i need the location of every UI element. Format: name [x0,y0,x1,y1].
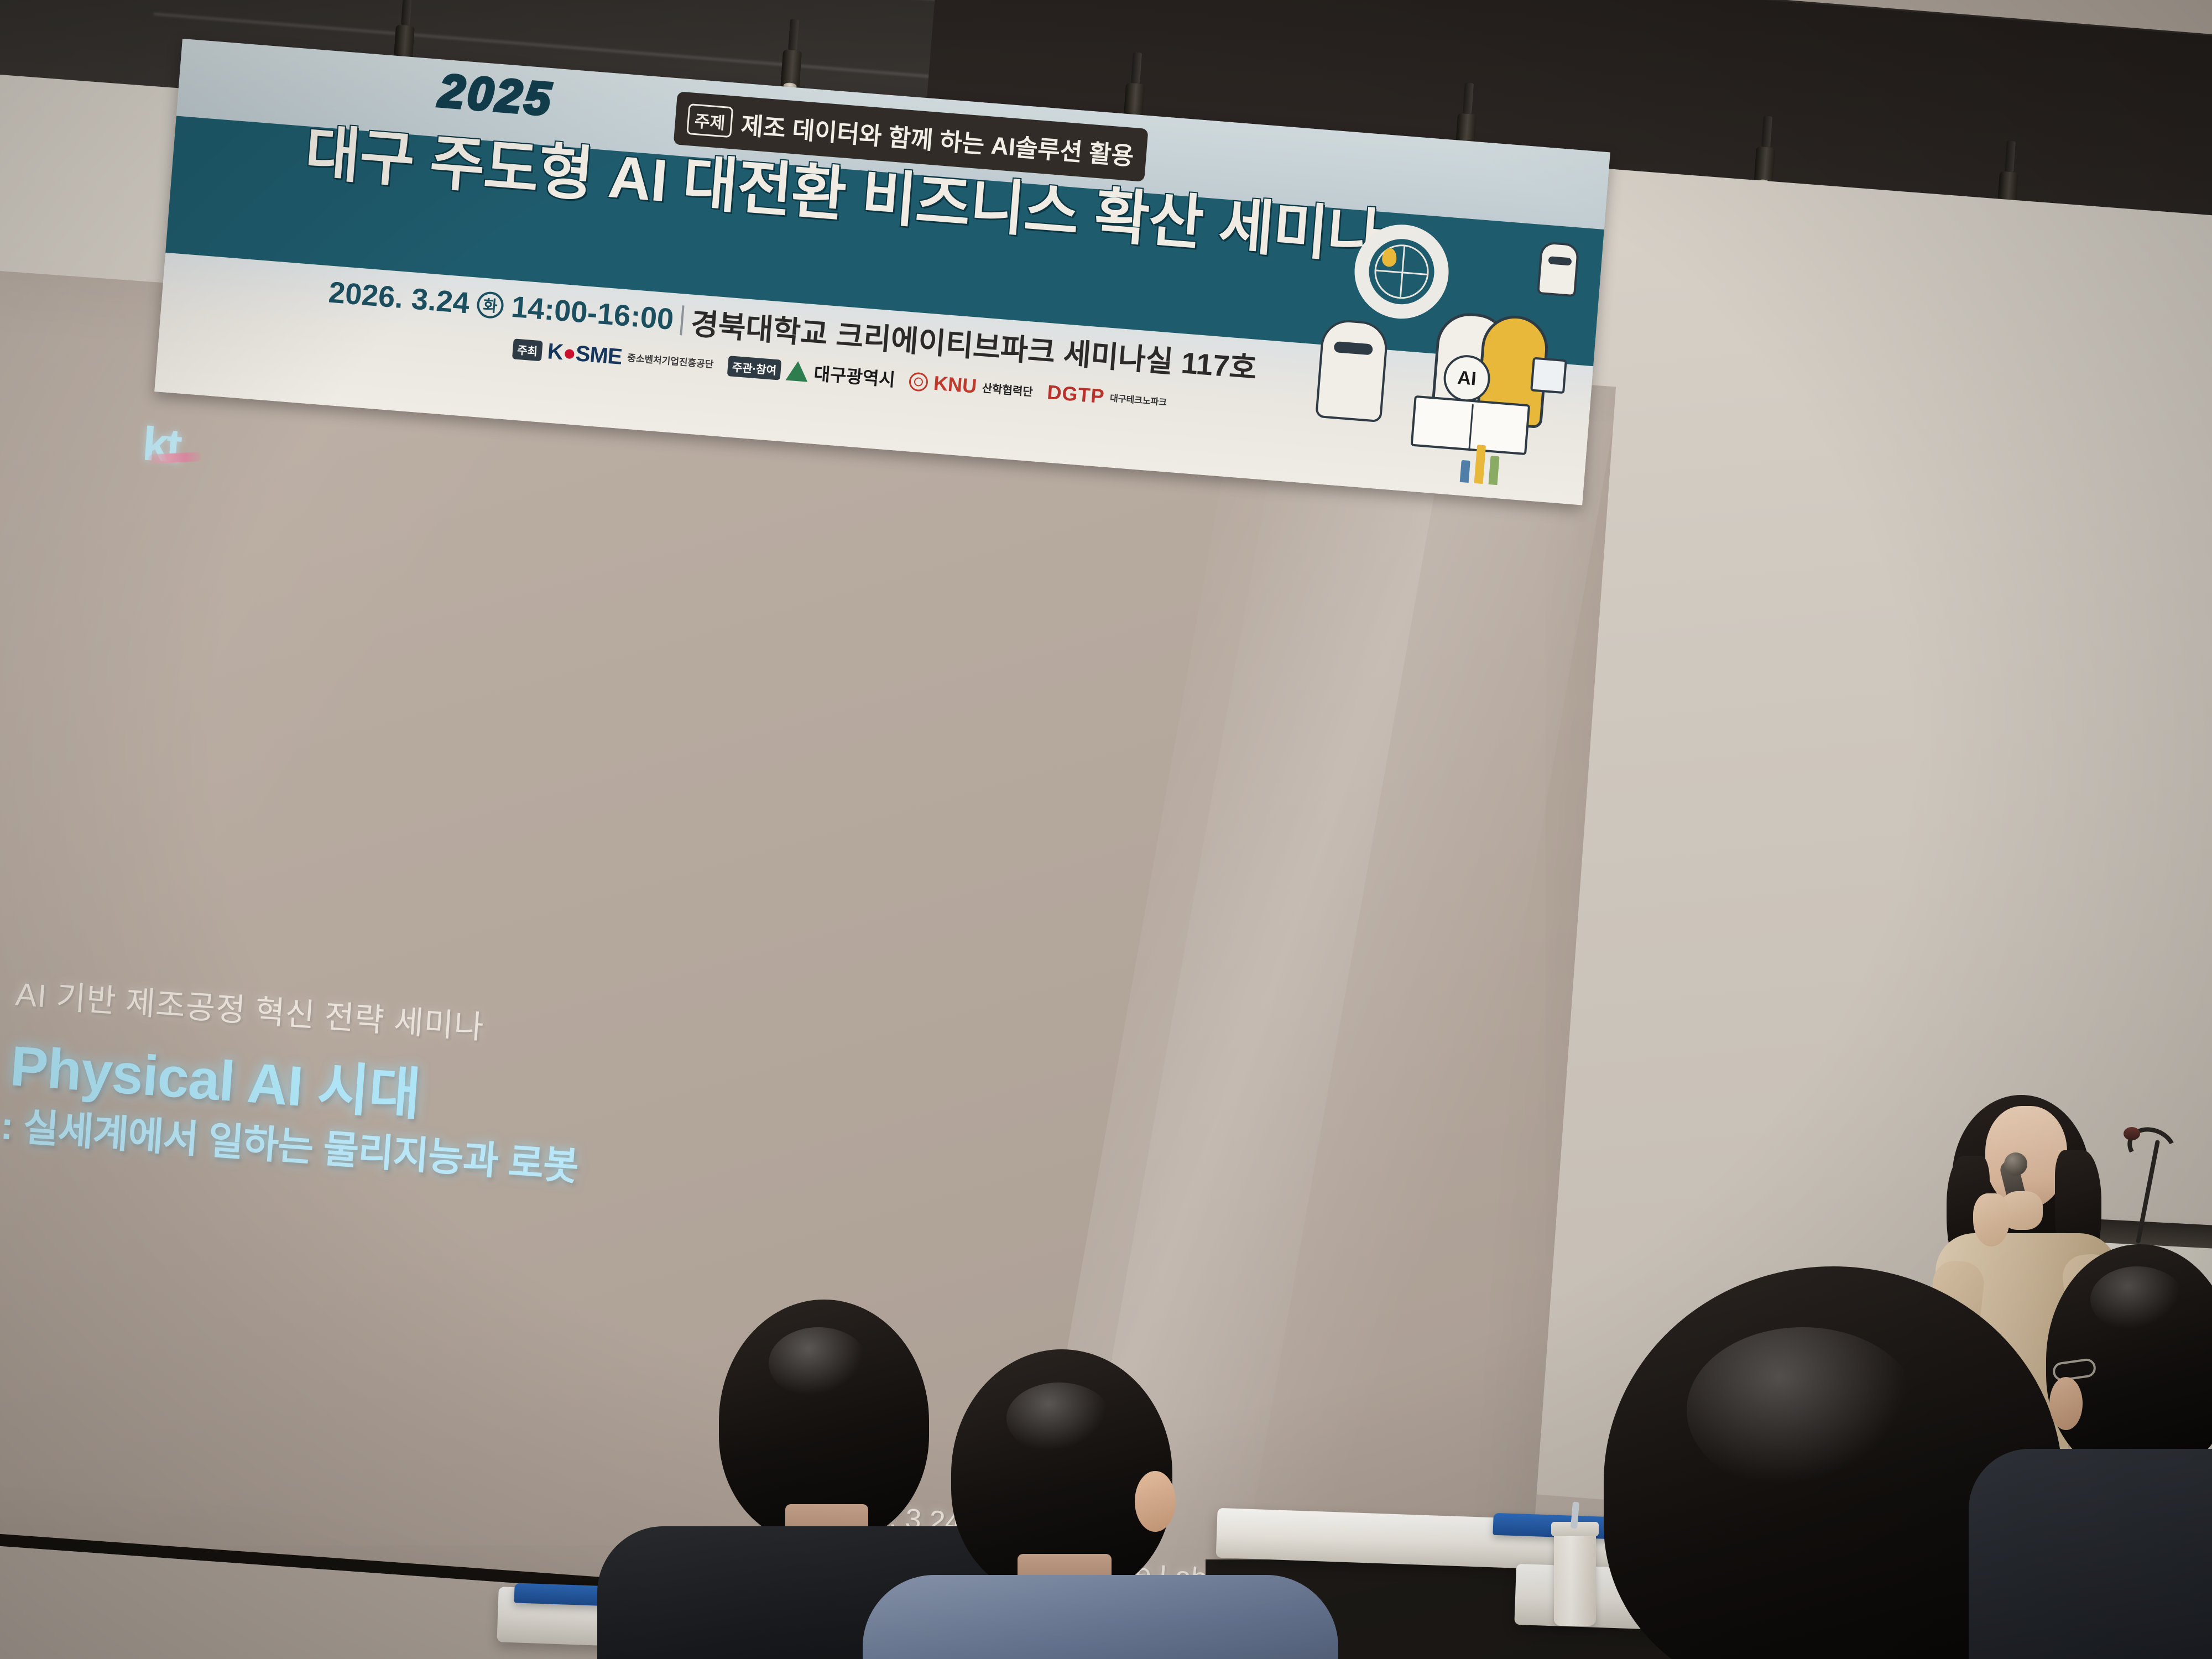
banner-day-chip: 화 [476,290,505,319]
banner-date: 2026. 3.24 [327,275,471,320]
globe-icon [1351,221,1452,322]
attendee-ear [1135,1471,1176,1532]
kt-swoosh-icon [148,452,202,464]
sponsor-role: 주관·참여 [727,356,782,380]
sponsor-name: DGTP [1046,380,1105,408]
sponsor-name: KNU [933,372,978,398]
attendee-torso [1969,1449,2212,1659]
chip-icon [1530,357,1567,394]
attendee-torso [863,1575,1338,1659]
banner-time: 14:00-16:00 [510,289,675,336]
attendee-ear [2049,1377,2083,1430]
gooseneck-mic-head [2124,1127,2140,1140]
microphone-head [2004,1152,2027,1176]
knu-mark-icon [909,372,929,392]
speaker-hand-left [1973,1193,2010,1246]
banner-illustration: AI [1305,213,1585,493]
banner-subject-tag: 주제 [686,103,733,138]
banner-divider [680,305,685,335]
robot-head-icon [1537,241,1579,297]
sponsor-role: 주최 [512,338,543,361]
robot-icon [1315,318,1389,422]
seminar-photo: kt AI 기반 제조공정 혁신 전략 세미나 Physical AI 시대 :… [0,0,2212,1659]
sponsor-sub: 대구테크노파크 [1109,390,1167,408]
bar-chart-icon [1460,444,1500,485]
drink-cup[interactable] [1554,1526,1596,1626]
sponsor-sub: 중소벤처기업진흥공단 [627,353,714,369]
daegu-mark-icon [786,361,810,382]
sponsor-sub: 산학협력단 [982,379,1034,399]
